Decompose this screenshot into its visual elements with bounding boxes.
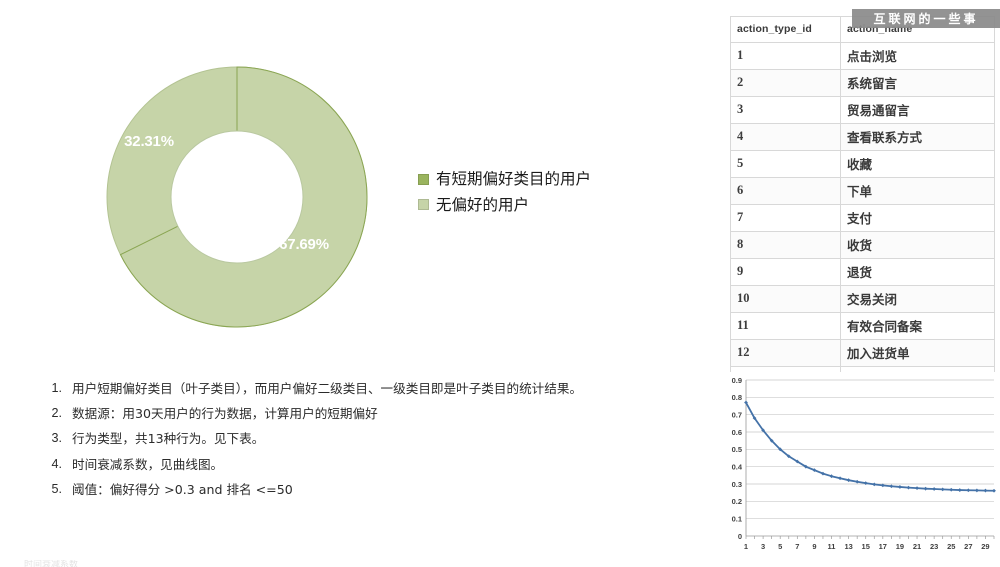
cell-action-type-id: 5 <box>731 151 841 178</box>
cell-action-type-id: 10 <box>731 286 841 313</box>
table-row: 3贸易通留言 <box>731 97 995 124</box>
x-tick-label: 23 <box>930 542 938 551</box>
cell-action-type-id: 11 <box>731 313 841 340</box>
decay-coefficient-line-chart: 00.10.20.30.40.50.60.70.80.9 13579111315… <box>718 372 1000 564</box>
note-text: 用户短期偏好类目（叶子类目），而用户偏好二级类目、一级类目即是叶子类目的统计结果… <box>72 381 582 397</box>
note-text: 时间衰减系数，见曲线图。 <box>72 457 223 473</box>
x-tick-label: 21 <box>913 542 921 551</box>
x-tick-label: 3 <box>761 542 765 551</box>
donut-chart: 67.69% 32.31% <box>92 52 382 342</box>
list-item: 1. 用户短期偏好类目（叶子类目），而用户偏好二级类目、一级类目即是叶子类目的统… <box>36 381 676 397</box>
cell-action-name: 收货 <box>841 232 995 259</box>
cell-action-type-id: 6 <box>731 178 841 205</box>
cell-action-type-id: 4 <box>731 124 841 151</box>
cell-action-name: 系统留言 <box>841 70 995 97</box>
cell-action-type-id: 1 <box>731 43 841 70</box>
x-tick-label: 19 <box>896 542 904 551</box>
data-point <box>958 488 962 492</box>
data-point <box>975 489 979 493</box>
data-point <box>924 487 928 491</box>
data-point <box>992 489 996 493</box>
cell-action-type-id: 8 <box>731 232 841 259</box>
cell-action-name: 贸易通留言 <box>841 97 995 124</box>
data-point <box>889 484 893 488</box>
y-tick-label: 0.1 <box>732 514 742 523</box>
table-row: 1点击浏览 <box>731 43 995 70</box>
watermark: 互联网的一些事 <box>852 9 1000 28</box>
data-point <box>966 488 970 492</box>
list-item: 2. 数据源：用30天用户的行为数据，计算用户的短期偏好 <box>36 406 676 422</box>
legend-item-secondary[interactable]: 无偏好的用户 <box>418 196 648 215</box>
table-row: 7支付 <box>731 205 995 232</box>
data-point <box>932 487 936 491</box>
data-point <box>898 485 902 489</box>
y-tick-label: 0 <box>738 532 742 541</box>
data-point <box>864 481 868 485</box>
table-row: 4查看联系方式 <box>731 124 995 151</box>
table-row: 11有效合同备案 <box>731 313 995 340</box>
legend-label-secondary: 无偏好的用户 <box>436 196 529 215</box>
donut-label-primary: 67.69% <box>279 236 329 253</box>
legend-item-primary[interactable]: 有短期偏好类目的用户 <box>418 170 648 189</box>
note-number: 1. <box>36 381 72 397</box>
x-tick-label: 27 <box>964 542 972 551</box>
list-item: 5. 阈值：偏好得分 >0.3 and 排名 <=50 <box>36 482 676 498</box>
note-text: 行为类型，共13种行为。见下表。 <box>72 431 264 447</box>
data-point <box>915 486 919 490</box>
note-number: 5. <box>36 482 72 498</box>
cell-action-type-id: 12 <box>731 340 841 367</box>
table-row: 2系统留言 <box>731 70 995 97</box>
cell-action-type-id: 3 <box>731 97 841 124</box>
x-tick-label: 1 <box>744 542 748 551</box>
table-row: 6下单 <box>731 178 995 205</box>
x-tick-label: 5 <box>778 542 782 551</box>
cell-action-type-id: 2 <box>731 70 841 97</box>
y-tick-label: 0.2 <box>732 497 742 506</box>
note-number: 3. <box>36 431 72 447</box>
y-tick-label: 0.6 <box>732 428 742 437</box>
cell-action-name: 支付 <box>841 205 995 232</box>
x-tick-label: 25 <box>947 542 955 551</box>
chart-series-line <box>746 403 994 491</box>
data-point <box>855 480 859 484</box>
y-tick-label: 0.4 <box>732 462 743 471</box>
legend-swatch-primary <box>418 174 429 185</box>
y-tick-label: 0.8 <box>732 393 742 402</box>
cell-action-type-id: 7 <box>731 205 841 232</box>
data-point <box>838 476 842 480</box>
legend-label-primary: 有短期偏好类目的用户 <box>436 170 591 189</box>
data-point <box>984 489 988 493</box>
data-point <box>907 486 911 490</box>
y-tick-label: 0.3 <box>732 480 742 489</box>
y-tick-label: 0.5 <box>732 445 742 454</box>
chart-gridlines <box>746 380 994 519</box>
cell-action-name: 退货 <box>841 259 995 286</box>
x-tick-label: 11 <box>828 542 836 551</box>
table-row: 10交易关闭 <box>731 286 995 313</box>
cell-action-name: 加入进货单 <box>841 340 995 367</box>
data-point <box>949 488 953 492</box>
note-text: 阈值：偏好得分 >0.3 and 排名 <=50 <box>72 482 293 498</box>
chart-x-axis-ticks: 1357911131517192123252729 <box>744 536 994 551</box>
x-tick-label: 17 <box>879 542 887 551</box>
cell-action-name: 交易关闭 <box>841 286 995 313</box>
data-point <box>847 478 851 482</box>
note-number: 4. <box>36 457 72 473</box>
table-row: 5收藏 <box>731 151 995 178</box>
cell-action-name: 有效合同备案 <box>841 313 995 340</box>
list-item: 3. 行为类型，共13种行为。见下表。 <box>36 431 676 447</box>
bottom-clipped-text: 时间衰减系数 <box>24 560 78 567</box>
y-tick-label: 0.7 <box>732 410 742 419</box>
x-tick-label: 9 <box>812 542 816 551</box>
cell-action-name: 收藏 <box>841 151 995 178</box>
column-header-action-type-id: action_type_id <box>731 17 841 43</box>
note-number: 2. <box>36 406 72 422</box>
note-text: 数据源：用30天用户的行为数据，计算用户的短期偏好 <box>72 406 378 422</box>
data-point <box>872 482 876 486</box>
notes-list: 1. 用户短期偏好类目（叶子类目），而用户偏好二级类目、一级类目即是叶子类目的统… <box>36 381 676 507</box>
cell-action-name: 点击浏览 <box>841 43 995 70</box>
action-type-table: action_type_id action_name 1点击浏览2系统留言3贸易… <box>730 16 995 394</box>
donut-chart-svg: 67.69% 32.31% <box>92 52 382 342</box>
cell-action-name: 下单 <box>841 178 995 205</box>
x-tick-label: 15 <box>862 542 870 551</box>
x-tick-label: 13 <box>844 542 852 551</box>
x-tick-label: 29 <box>981 542 989 551</box>
chart-y-axis-ticks: 00.10.20.30.40.50.60.70.80.9 <box>732 376 743 541</box>
y-tick-label: 0.9 <box>732 376 742 385</box>
table-row: 12加入进货单 <box>731 340 995 367</box>
table-row: 8收货 <box>731 232 995 259</box>
x-tick-label: 7 <box>795 542 799 551</box>
donut-legend: 有短期偏好类目的用户 无偏好的用户 <box>418 170 648 221</box>
list-item: 4. 时间衰减系数，见曲线图。 <box>36 457 676 473</box>
donut-label-secondary: 32.31% <box>124 133 174 150</box>
line-chart-svg: 00.10.20.30.40.50.60.70.80.9 13579111315… <box>718 372 1000 564</box>
cell-action-type-id: 9 <box>731 259 841 286</box>
legend-swatch-secondary <box>418 199 429 210</box>
table-row: 9退货 <box>731 259 995 286</box>
data-point <box>941 487 945 491</box>
cell-action-name: 查看联系方式 <box>841 124 995 151</box>
